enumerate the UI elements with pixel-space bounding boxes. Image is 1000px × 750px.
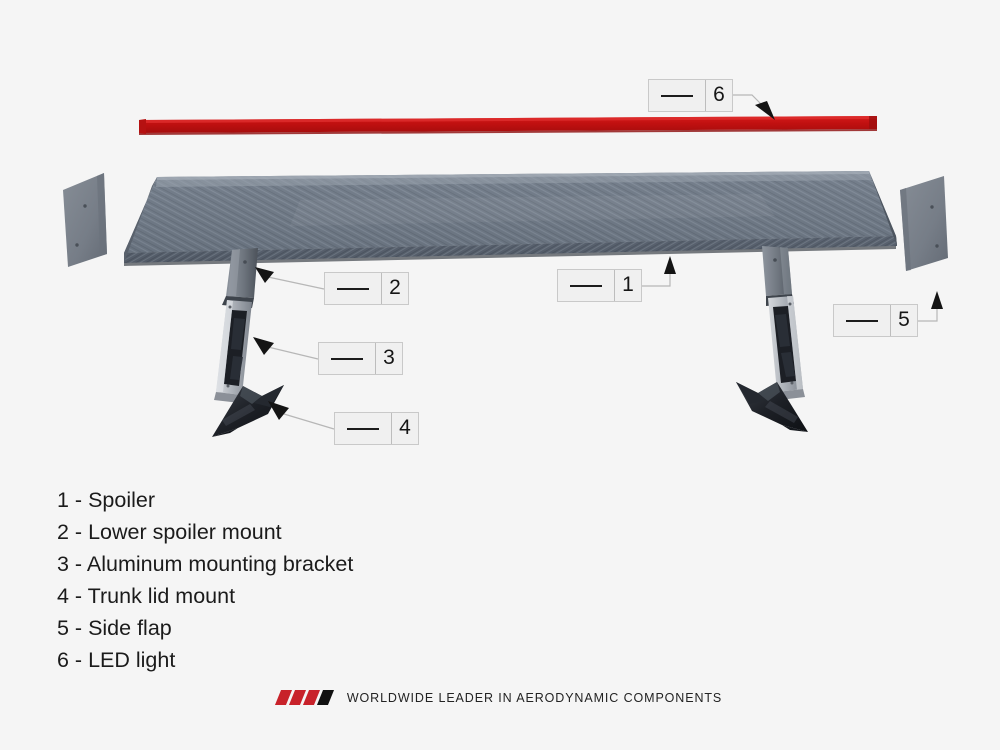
leader-line-3 bbox=[268, 347, 318, 359]
leader-lines bbox=[268, 95, 937, 429]
arrow-5-up bbox=[931, 291, 943, 309]
callout-4-dash-cell bbox=[335, 413, 392, 444]
arrow-2-upleft bbox=[255, 267, 274, 283]
arrow-3-upleft bbox=[253, 337, 274, 355]
callout-1-number: 1 bbox=[615, 270, 641, 301]
dash-icon bbox=[661, 95, 693, 97]
dash-icon bbox=[570, 285, 602, 287]
callout-6-number: 6 bbox=[706, 80, 732, 111]
legend-item-5: 5 - Side flap bbox=[57, 612, 517, 644]
legend-item-3: 3 - Aluminum mounting bracket bbox=[57, 548, 517, 580]
callout-6-dash-cell bbox=[649, 80, 706, 111]
callout-3-dash-cell bbox=[319, 343, 376, 374]
dash-icon bbox=[846, 320, 878, 322]
part-aluminum-bracket-left bbox=[214, 300, 252, 403]
dash-icon bbox=[337, 288, 369, 290]
dash-icon bbox=[347, 428, 379, 430]
part-strut-assembly-right bbox=[736, 246, 808, 432]
callout-5[interactable]: 5 bbox=[833, 304, 918, 337]
leader-line-5 bbox=[915, 307, 937, 321]
leader-line-2 bbox=[268, 277, 324, 289]
part-side-flap-left bbox=[63, 173, 107, 267]
callout-1[interactable]: 1 bbox=[557, 269, 642, 302]
footer-banner: WORLDWIDE LEADER IN AERODYNAMIC COMPONEN… bbox=[0, 690, 1000, 705]
callout-2[interactable]: 2 bbox=[324, 272, 409, 305]
callout-5-number: 5 bbox=[891, 305, 917, 336]
callout-2-number: 2 bbox=[382, 273, 408, 304]
legend-item-1: 1 - Spoiler bbox=[57, 484, 517, 516]
callout-2-dash-cell bbox=[325, 273, 382, 304]
callout-5-dash-cell bbox=[834, 305, 891, 336]
callout-3[interactable]: 3 bbox=[318, 342, 403, 375]
footer-tagline: WORLDWIDE LEADER IN AERODYNAMIC COMPONEN… bbox=[347, 691, 722, 705]
legend-item-6: 6 - LED light bbox=[57, 644, 517, 676]
callout-4[interactable]: 4 bbox=[334, 412, 419, 445]
brand-logo-icon bbox=[278, 690, 334, 705]
legend-item-4: 4 - Trunk lid mount bbox=[57, 580, 517, 612]
diagram-canvas: 1 2 3 4 5 6 1 - Spoiler 2 - Lower spoile… bbox=[0, 0, 1000, 750]
legend-item-2: 2 - Lower spoiler mount bbox=[57, 516, 517, 548]
leader-line-4 bbox=[284, 414, 334, 429]
leader-line-1 bbox=[641, 272, 670, 286]
callout-3-number: 3 bbox=[376, 343, 402, 374]
part-side-flap-right bbox=[900, 176, 948, 271]
parts-legend: 1 - Spoiler 2 - Lower spoiler mount 3 - … bbox=[57, 484, 517, 676]
part-led-light bbox=[139, 116, 877, 135]
callout-4-number: 4 bbox=[392, 413, 418, 444]
callout-1-dash-cell bbox=[558, 270, 615, 301]
arrow-4-upleft bbox=[268, 401, 289, 420]
dash-icon bbox=[331, 358, 363, 360]
logo-bar-4 bbox=[317, 690, 334, 705]
leader-line-6 bbox=[731, 95, 762, 105]
arrow-1-up bbox=[664, 256, 676, 274]
callout-6[interactable]: 6 bbox=[648, 79, 733, 112]
